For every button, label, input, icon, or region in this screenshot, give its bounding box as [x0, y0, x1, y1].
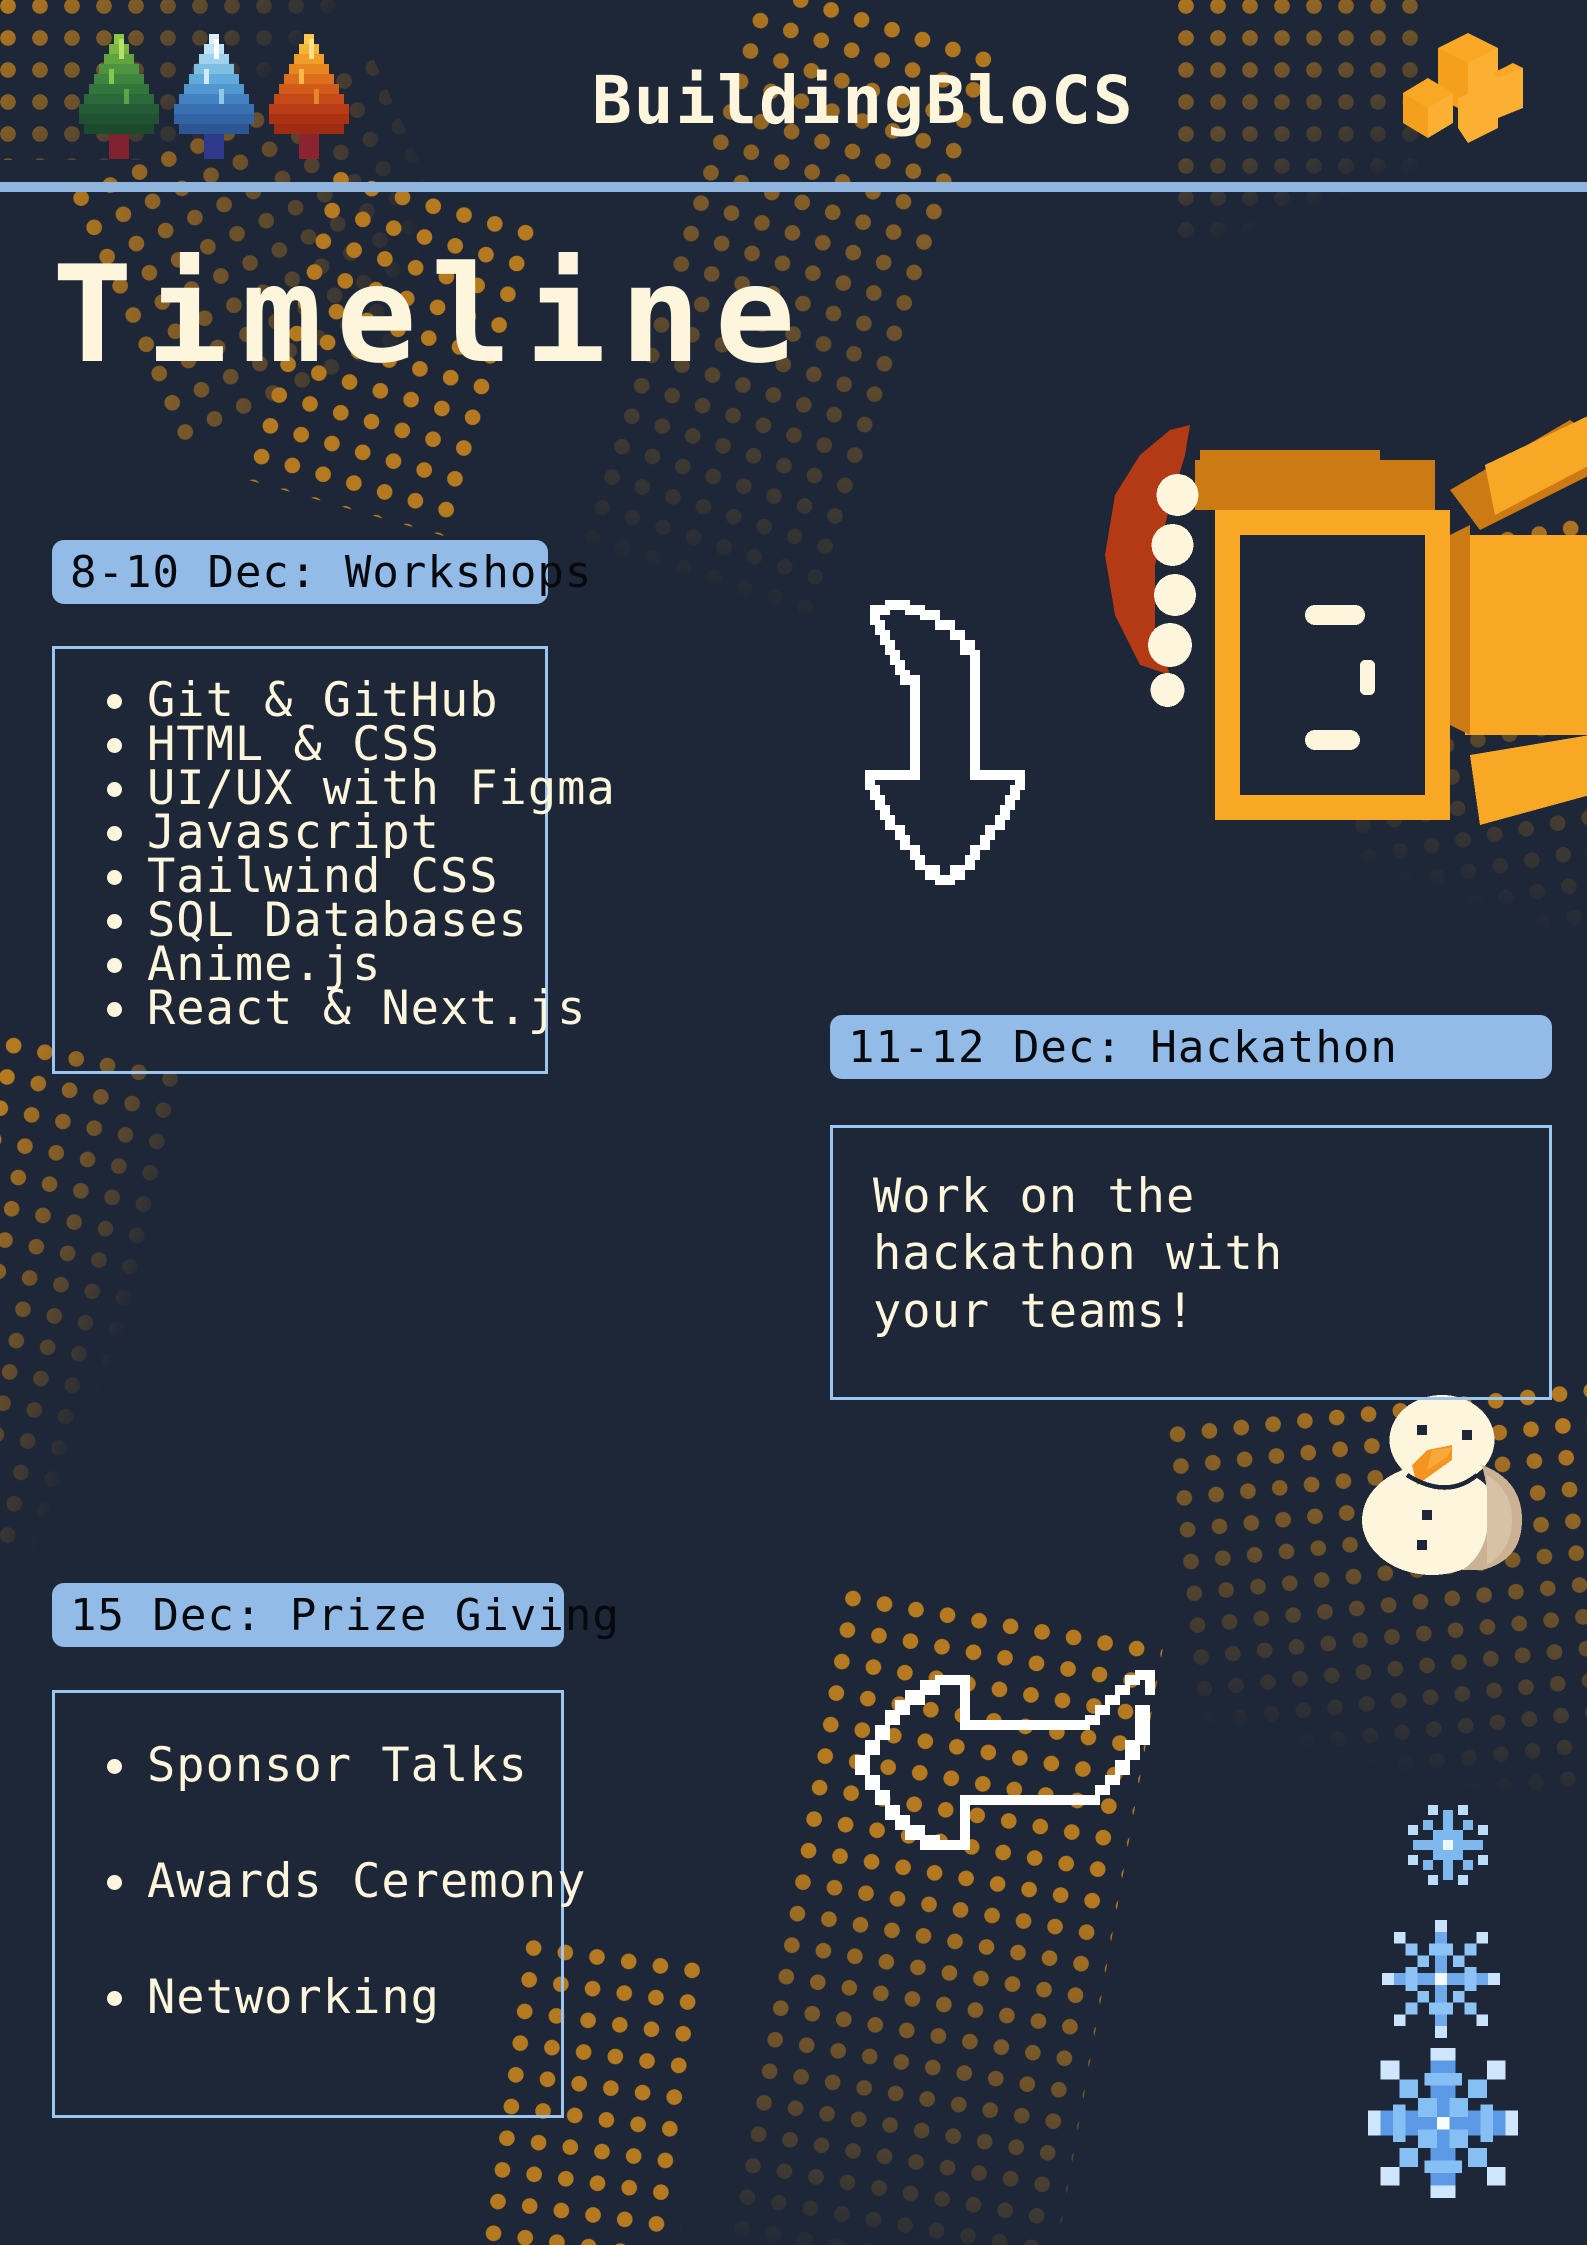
isometric-blocks-logo-icon	[1388, 28, 1528, 148]
list-item-label: Sponsor Talks	[107, 1737, 528, 1795]
workshops-list: Git & GitHub HTML & CSS UI/UX with Figma…	[107, 679, 616, 1031]
bullet-icon	[107, 958, 122, 973]
dot-pattern-left-band	[0, 1020, 185, 1574]
section-badge-hackathon[interactable]: 11-12 Dec: Hackathon	[830, 1015, 1552, 1079]
section-badge-workshops-label: 8-10 Dec: Workshops	[70, 547, 592, 598]
bullet-icon	[107, 782, 122, 797]
snowflake-small-svg	[1408, 1805, 1488, 1885]
gift-box-svg	[1020, 405, 1587, 845]
poster-canvas: BuildingBloCS Timeline	[0, 0, 1587, 2245]
snowman-icon	[1337, 1385, 1547, 1575]
bullet-icon	[107, 1875, 122, 1890]
list-item: Awards Ceremony	[107, 1853, 586, 1911]
list-item: Sponsor Talks	[107, 1737, 586, 1795]
snowflake-icon-small	[1408, 1805, 1488, 1885]
section-badge-workshops[interactable]: 8-10 Dec: Workshops	[52, 540, 548, 604]
list-item-label: Networking	[107, 1969, 440, 2027]
snowman-svg	[1337, 1385, 1547, 1575]
panel-workshops: Git & GitHub HTML & CSS UI/UX with Figma…	[52, 646, 548, 1074]
section-badge-hackathon-label: 11-12 Dec: Hackathon	[848, 1022, 1398, 1073]
section-badge-prize-giving[interactable]: 15 Dec: Prize Giving	[52, 1583, 564, 1647]
bullet-icon	[107, 738, 122, 753]
poster-header: BuildingBloCS	[0, 0, 1587, 186]
brand-wordmark: BuildingBloCS	[592, 62, 1135, 139]
prize-giving-list: Sponsor Talks Awards Ceremony Networking	[107, 1737, 586, 2085]
list-item-label: Awards Ceremony	[107, 1853, 586, 1911]
bullet-icon	[107, 694, 122, 709]
snowflake-icon-medium	[1382, 1920, 1500, 2038]
panel-prize-giving: Sponsor Talks Awards Ceremony Networking	[52, 1690, 564, 2118]
snowflake-large-svg	[1368, 2048, 1518, 2198]
hackathon-description: Work on the hackathon with your teams!	[873, 1168, 1283, 1340]
list-item-label: React & Next.js	[107, 987, 586, 1031]
list-item: React & Next.js	[107, 987, 616, 1031]
panel-hackathon: Work on the hackathon with your teams!	[830, 1125, 1552, 1400]
logo-svg	[1388, 28, 1528, 148]
pine-tree-orange-icon	[269, 34, 349, 159]
bullet-icon	[107, 826, 122, 841]
pine-tree-blue-icon	[174, 34, 254, 159]
snowflake-icon-large	[1368, 2048, 1518, 2198]
list-item: Networking	[107, 1969, 586, 2027]
pine-tree-green-icon	[79, 34, 159, 159]
gift-box-icon	[1020, 405, 1587, 845]
arrow-down-curved-icon	[855, 590, 1035, 890]
pine-trees-group	[74, 24, 364, 164]
bullet-icon	[107, 1759, 122, 1774]
bullet-icon	[107, 1991, 122, 2006]
bullet-icon	[107, 870, 122, 885]
header-divider-rule	[0, 182, 1587, 192]
section-badge-prize-giving-label: 15 Dec: Prize Giving	[70, 1590, 620, 1641]
arrow-left-icon	[855, 1665, 1185, 1870]
arrow-left-svg	[855, 1665, 1185, 1870]
snowflake-medium-svg	[1382, 1920, 1500, 2038]
bullet-icon	[107, 914, 122, 929]
bullet-icon	[107, 1002, 122, 1017]
arrow-down-svg	[855, 590, 1035, 890]
page-title: Timeline	[52, 248, 809, 382]
pine-trees-svg	[74, 24, 364, 164]
